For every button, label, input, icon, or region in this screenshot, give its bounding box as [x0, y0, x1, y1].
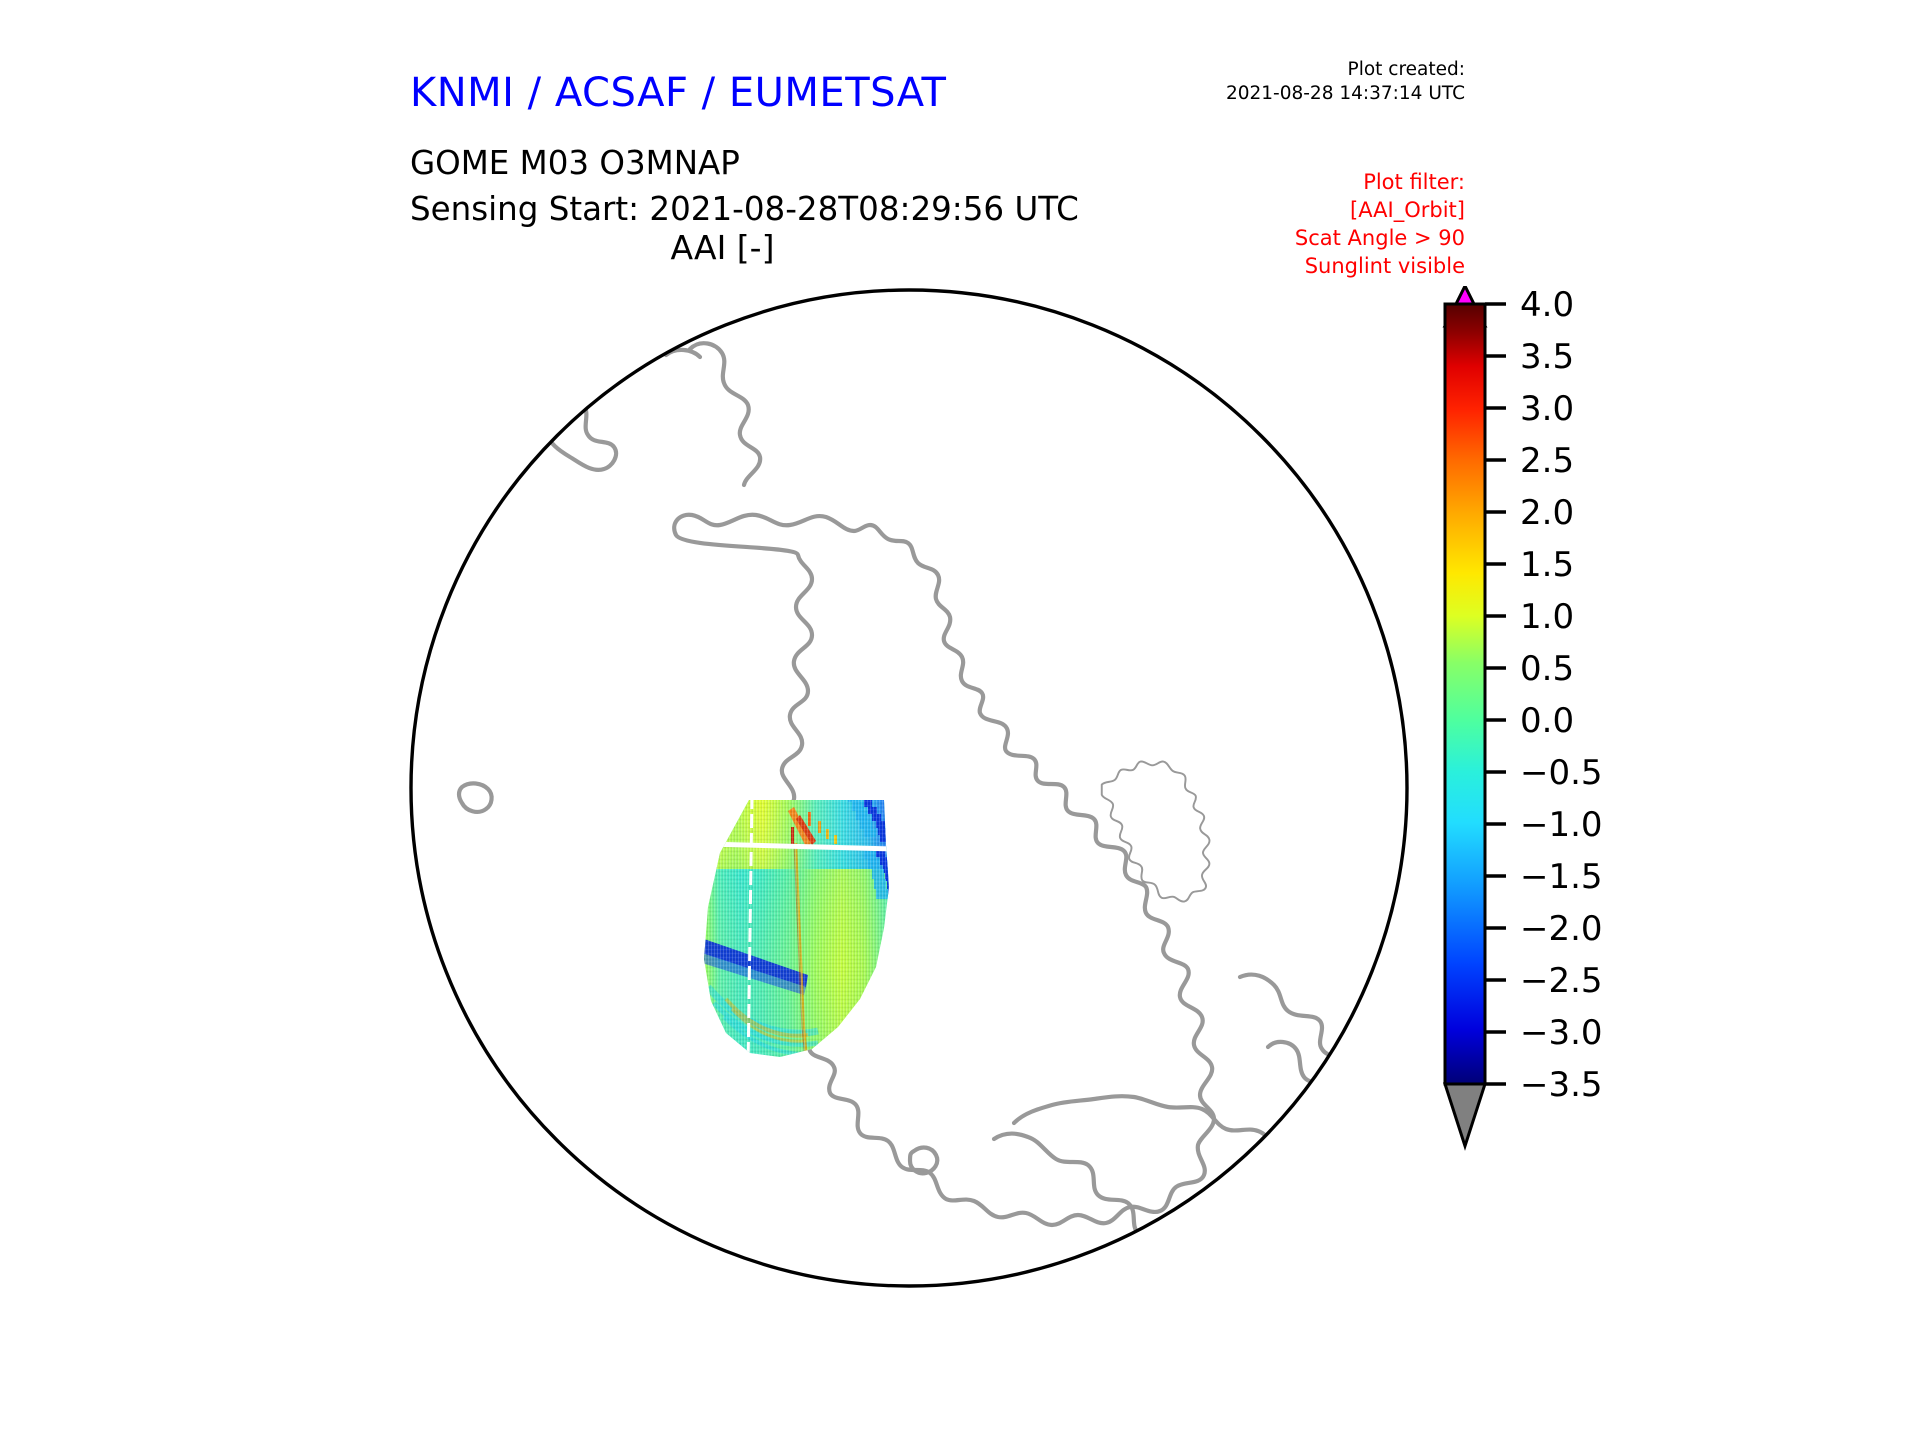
- colorbar-svg[interactable]: 4.03.53.02.52.01.51.00.50.0−0.5−1.0−1.5−…: [1440, 286, 1740, 1306]
- colorbar-tick-label: 2.0: [1520, 493, 1574, 533]
- colorbar-tick-label: −1.0: [1520, 805, 1603, 845]
- colorbar-tick-label: −0.5: [1520, 753, 1603, 793]
- plot-filter-scat-angle: Scat Angle > 90: [1295, 224, 1465, 252]
- plot-filter-variable: [AAI_Orbit]: [1295, 196, 1465, 224]
- plot-title: AAI [-]: [0, 228, 1445, 267]
- plot-filter-label: Plot filter:: [1295, 168, 1465, 196]
- plot-created-label: Plot created:: [1226, 58, 1465, 82]
- colorbar-tick-label: 3.5: [1520, 337, 1574, 377]
- page-title-organisation: KNMI / ACSAF / EUMETSAT: [410, 70, 946, 116]
- colorbar-under-arrow: [1445, 1084, 1485, 1146]
- plot-created-value: 2021-08-28 14:37:14 UTC: [1226, 82, 1465, 106]
- colorbar-tick-label: −2.0: [1520, 909, 1603, 949]
- sensing-start: Sensing Start: 2021-08-28T08:29:56 UTC: [410, 186, 1079, 232]
- colorbar-panel[interactable]: 4.03.53.02.52.01.51.00.50.0−0.5−1.0−1.5−…: [1440, 286, 1740, 1306]
- coastline-island-right-lower: [1301, 1103, 1342, 1138]
- plot-filter-block: Plot filter: [AAI_Orbit] Scat Angle > 90…: [1295, 168, 1465, 281]
- colorbar-tick-label: 1.5: [1520, 545, 1574, 585]
- colorbar-tick-label: −3.5: [1520, 1065, 1603, 1105]
- colorbar-ticks: 4.03.53.02.52.01.51.00.50.0−0.5−1.0−1.5−…: [1485, 286, 1603, 1105]
- dataset-name: GOME M03 O3MNAP: [410, 140, 1079, 186]
- dataset-info-block: GOME M03 O3MNAP Sensing Start: 2021-08-2…: [410, 140, 1079, 232]
- colorbar-tick-label: −2.5: [1520, 961, 1603, 1001]
- map-disc-background: [411, 290, 1407, 1286]
- colorbar-gradient: [1445, 304, 1485, 1084]
- colorbar-tick-label: 0.0: [1520, 701, 1574, 741]
- colorbar-tick-label: 2.5: [1520, 441, 1574, 481]
- colorbar-tick-label: 4.0: [1520, 286, 1574, 325]
- colorbar-tick-label: 0.5: [1520, 649, 1574, 689]
- colorbar-tick-label: 1.0: [1520, 597, 1574, 637]
- polar-map-svg[interactable]: [408, 287, 1410, 1289]
- colorbar-tick-label: −3.0: [1520, 1013, 1603, 1053]
- plot-created-block: Plot created: 2021-08-28 14:37:14 UTC: [1226, 58, 1465, 107]
- plot-filter-sunglint: Sunglint visible: [1295, 252, 1465, 280]
- colorbar-tick-label: −1.5: [1520, 857, 1603, 897]
- colorbar-tick-label: 3.0: [1520, 389, 1574, 429]
- map-panel[interactable]: [408, 287, 1410, 1289]
